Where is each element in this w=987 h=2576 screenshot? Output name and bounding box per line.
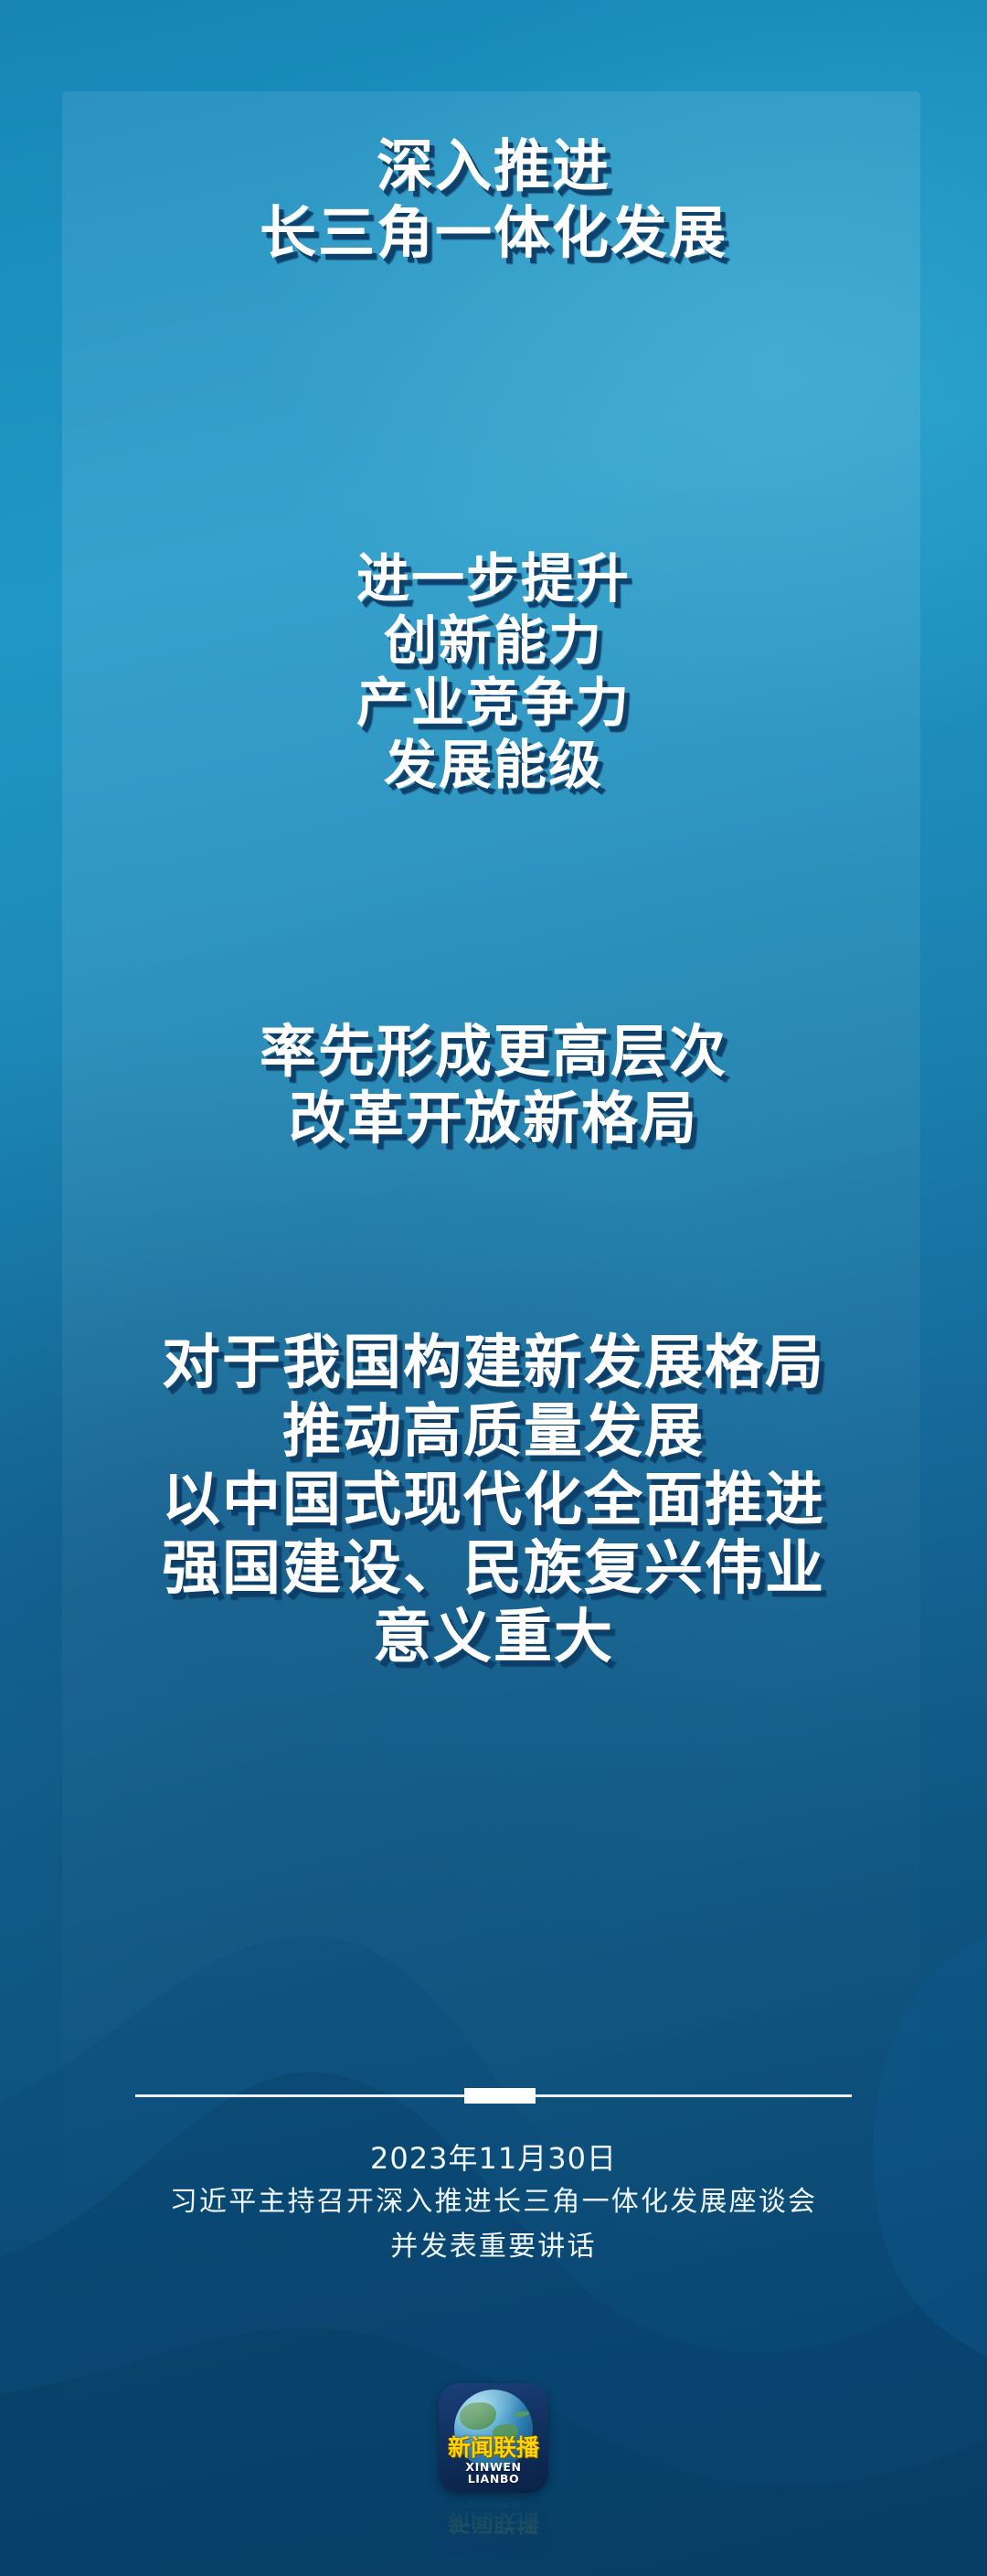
channel-logo: 新闻联播 XINWEN LIANBO 新闻联播 XINWEN LIANBO <box>430 2383 557 2520</box>
footer-line-1: 习近平主持召开深入推进长三角一体化发展座谈会 <box>0 2180 987 2225</box>
logo-reflection-name-cn: 新闻联播 <box>439 2511 548 2534</box>
block3-line-2: 改革开放新格局 <box>0 1086 987 1152</box>
footer-line-2: 并发表重要讲话 <box>0 2225 987 2270</box>
poster-content: 深入推进 长三角一体化发展 进一步提升 创新能力 产业竞争力 发展能级 率先形成… <box>0 0 987 2576</box>
block2-line-4: 发展能级 <box>0 735 987 797</box>
text-block-2: 进一步提升 创新能力 产业竞争力 发展能级 <box>0 548 987 796</box>
divider-center-nub <box>464 2088 536 2104</box>
block4-line-5: 意义重大 <box>0 1604 987 1672</box>
section-divider <box>0 2088 987 2103</box>
text-block-4: 对于我国构建新发展格局 推动高质量发展 以中国式现代化全面推进 强国建设、民族复… <box>0 1330 987 1671</box>
logo-reflection-name-en: XINWEN LIANBO <box>439 2498 548 2508</box>
logo-name-cn: 新闻联播 <box>439 2436 548 2459</box>
block2-line-2: 创新能力 <box>0 610 987 673</box>
block4-line-3: 以中国式现代化全面推进 <box>0 1467 987 1535</box>
poster-root: 深入推进 长三角一体化发展 进一步提升 创新能力 产业竞争力 发展能级 率先形成… <box>0 0 987 2576</box>
block1-line-2: 长三角一体化发展 <box>0 200 987 267</box>
block4-line-2: 推动高质量发展 <box>0 1398 987 1467</box>
block3-line-1: 率先形成更高层次 <box>0 1019 987 1086</box>
footer-caption: 2023年11月30日 习近平主持召开深入推进长三角一体化发展座谈会 并发表重要… <box>0 2136 987 2269</box>
block1-line-1: 深入推进 <box>0 133 987 200</box>
text-block-3: 率先形成更高层次 改革开放新格局 <box>0 1019 987 1151</box>
block4-line-4: 强国建设、民族复兴伟业 <box>0 1535 987 1604</box>
xinwen-lianbo-badge: 新闻联播 XINWEN LIANBO <box>439 2383 548 2493</box>
logo-name-en: XINWEN LIANBO <box>439 2462 548 2485</box>
block4-line-1: 对于我国构建新发展格局 <box>0 1330 987 1398</box>
block2-line-3: 产业竞争力 <box>0 673 987 735</box>
logo-reflection: 新闻联播 XINWEN LIANBO <box>439 2498 548 2562</box>
block2-line-1: 进一步提升 <box>0 548 987 610</box>
footer-date: 2023年11月30日 <box>0 2136 987 2180</box>
text-block-1: 深入推进 长三角一体化发展 <box>0 133 987 266</box>
